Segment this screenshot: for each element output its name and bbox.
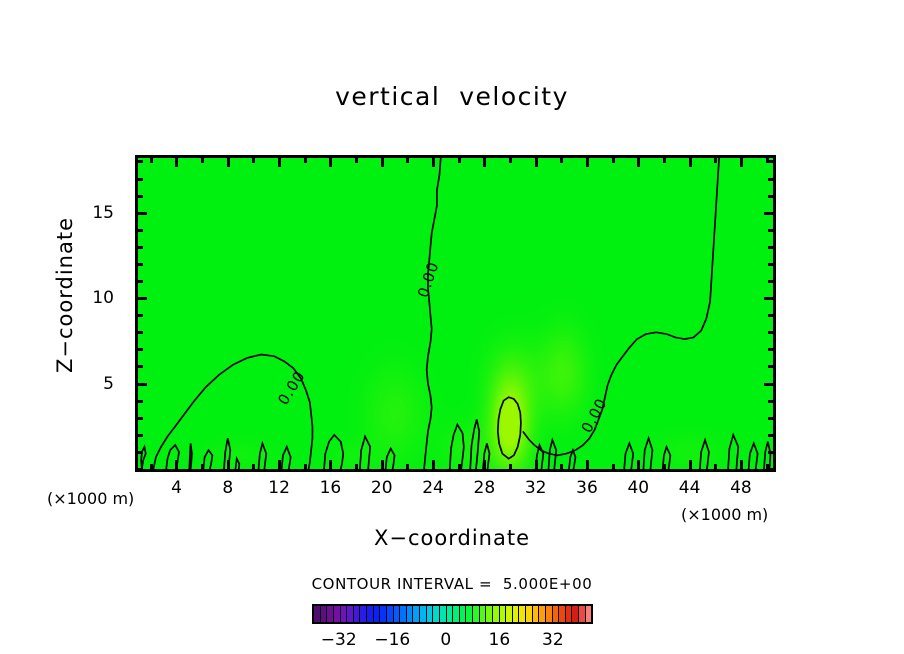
colorbar-cell <box>460 606 467 622</box>
x-tick-major <box>586 460 589 469</box>
colorbar-cell <box>380 606 387 622</box>
x-tick-major-top <box>637 158 640 167</box>
x-tick-minor <box>612 464 615 469</box>
y-tick-major-right <box>764 212 773 215</box>
x-tick-label: 24 <box>422 478 444 498</box>
colorbar-cell <box>473 606 480 622</box>
x-tick-label: 16 <box>320 478 342 498</box>
x-tick-minor-top <box>663 158 666 163</box>
colorbar-cell <box>579 606 586 622</box>
colorbar-cell <box>354 606 361 622</box>
x-tick-label: 48 <box>730 478 752 498</box>
x-tick-major <box>483 460 486 469</box>
x-tick-major <box>227 460 230 469</box>
y-tick-major <box>138 212 147 215</box>
colorbar-cell <box>400 606 407 622</box>
colorbar-cell <box>321 606 328 622</box>
x-tick-major-top <box>483 158 486 167</box>
x-tick-major-top <box>740 158 743 167</box>
colorbar-cell <box>374 606 381 622</box>
x-tick-major <box>381 460 384 469</box>
x-tick-label: 20 <box>371 478 393 498</box>
y-tick-minor-right <box>768 417 773 420</box>
colorbar-cell <box>334 606 341 622</box>
y-axis-title: Z−coordinate <box>53 217 77 373</box>
colorbar-cell <box>539 606 546 622</box>
colorbar-cell <box>394 606 401 622</box>
y-tick-major <box>138 297 147 300</box>
y-tick-minor <box>138 400 143 403</box>
y-tick-minor <box>138 451 143 454</box>
x-tick-major <box>535 460 538 469</box>
x-tick-major-top <box>329 158 332 167</box>
y-tick-label: 15 <box>92 203 114 223</box>
x-tick-minor-top <box>612 158 615 163</box>
y-tick-label: 10 <box>92 288 114 308</box>
x-tick-major <box>637 460 640 469</box>
colorbar-cell <box>572 606 579 622</box>
contour-interval-caption: CONTOUR INTERVAL = 5.000E+00 <box>0 575 904 593</box>
x-tick-label: 32 <box>525 478 547 498</box>
colorbar-cell <box>493 606 500 622</box>
velocity-field-raster <box>138 158 773 469</box>
x-tick-major-top <box>535 158 538 167</box>
x-tick-major <box>278 460 281 469</box>
y-tick-minor <box>138 195 143 198</box>
colorbar-tick-label: 16 <box>489 630 511 650</box>
x-tick-label: 8 <box>222 478 233 498</box>
y-tick-label: 5 <box>103 374 114 394</box>
colorbar-cell <box>327 606 334 622</box>
x-tick-minor <box>560 464 563 469</box>
colorbar-cell <box>526 606 533 622</box>
left-unit-label: (×1000 m) <box>47 489 134 508</box>
y-tick-minor <box>138 365 143 368</box>
y-tick-minor-right <box>768 314 773 317</box>
colorbar-cell <box>500 606 507 622</box>
y-tick-minor <box>138 331 143 334</box>
contour-plot-figure: vertical velocity 0.000.000.00 481216202… <box>0 0 904 654</box>
y-tick-minor <box>138 434 143 437</box>
colorbar-cell <box>420 606 427 622</box>
colorbar-cell <box>553 606 560 622</box>
colorbar-cell <box>559 606 566 622</box>
x-tick-minor <box>304 464 307 469</box>
colorbar-cell <box>513 606 520 622</box>
y-tick-minor-right <box>768 468 773 471</box>
colorbar-cell <box>407 606 414 622</box>
x-tick-label: 28 <box>474 478 496 498</box>
colorbar-cell <box>533 606 540 622</box>
y-tick-minor <box>138 314 143 317</box>
colorbar-cell <box>506 606 513 622</box>
colorbar-cell <box>387 606 394 622</box>
y-tick-minor-right <box>768 280 773 283</box>
colorbar-cell <box>413 606 420 622</box>
right-unit-label: (×1000 m) <box>681 505 768 524</box>
plot-area: 0.000.000.00 <box>135 155 776 472</box>
x-tick-minor-top <box>252 158 255 163</box>
y-tick-minor-right <box>768 451 773 454</box>
x-tick-major-top <box>432 158 435 167</box>
x-tick-label: 4 <box>171 478 182 498</box>
colorbar-cell <box>433 606 440 622</box>
colorbar-cell <box>314 606 321 622</box>
x-tick-minor <box>714 464 717 469</box>
y-tick-minor-right <box>768 246 773 249</box>
colorbar-cell <box>447 606 454 622</box>
x-tick-major-top <box>278 158 281 167</box>
x-axis-title: X−coordinate <box>0 526 904 550</box>
x-tick-major-top <box>381 158 384 167</box>
x-tick-minor <box>663 464 666 469</box>
y-tick-minor-right <box>768 178 773 181</box>
colorbar-cell <box>466 606 473 622</box>
colorbar-cell <box>427 606 434 622</box>
colorbar-cell <box>546 606 553 622</box>
x-tick-major-top <box>586 158 589 167</box>
y-tick-minor-right <box>768 348 773 351</box>
x-tick-major-top <box>175 158 178 167</box>
x-tick-minor-top <box>355 158 358 163</box>
x-tick-minor-top <box>150 158 153 163</box>
x-tick-major <box>432 460 435 469</box>
y-tick-minor-right <box>768 434 773 437</box>
colorbar-tick-label: −16 <box>374 630 410 650</box>
y-tick-major <box>138 383 147 386</box>
page-title: vertical velocity <box>0 82 904 111</box>
x-tick-minor-top <box>509 158 512 163</box>
x-tick-minor-top <box>406 158 409 163</box>
x-tick-label: 44 <box>679 478 701 498</box>
x-tick-minor <box>509 464 512 469</box>
y-tick-minor <box>138 280 143 283</box>
x-tick-minor <box>458 464 461 469</box>
y-tick-minor <box>138 417 143 420</box>
y-tick-minor <box>138 468 143 471</box>
x-tick-minor-top <box>458 158 461 163</box>
colorbar-cell <box>347 606 354 622</box>
x-tick-label: 40 <box>627 478 649 498</box>
x-tick-minor-top <box>714 158 717 163</box>
y-tick-minor <box>138 178 143 181</box>
y-tick-minor-right <box>768 195 773 198</box>
x-tick-minor <box>150 464 153 469</box>
y-tick-minor-right <box>768 160 773 163</box>
y-tick-minor <box>138 160 143 163</box>
y-tick-major-right <box>764 297 773 300</box>
colorbar-cell <box>367 606 374 622</box>
x-tick-minor <box>201 464 204 469</box>
x-tick-minor-top <box>560 158 563 163</box>
colorbar-cell <box>586 606 592 622</box>
y-tick-minor-right <box>768 263 773 266</box>
y-tick-minor-right <box>768 331 773 334</box>
y-tick-minor <box>138 263 143 266</box>
x-tick-major <box>175 460 178 469</box>
y-tick-major-right <box>764 383 773 386</box>
colorbar <box>312 604 593 624</box>
x-tick-minor <box>252 464 255 469</box>
x-tick-minor-top <box>201 158 204 163</box>
colorbar-cell <box>360 606 367 622</box>
x-tick-label: 12 <box>268 478 290 498</box>
x-tick-minor-top <box>304 158 307 163</box>
colorbar-cell <box>566 606 573 622</box>
colorbar-cell <box>486 606 493 622</box>
x-tick-minor <box>355 464 358 469</box>
y-tick-minor <box>138 229 143 232</box>
colorbar-cell <box>440 606 447 622</box>
colorbar-tick-label: −32 <box>321 630 357 650</box>
x-tick-major <box>740 460 743 469</box>
y-tick-minor <box>138 348 143 351</box>
colorbar-tick-label: 32 <box>542 630 564 650</box>
x-tick-major <box>329 460 332 469</box>
x-tick-major-top <box>227 158 230 167</box>
colorbar-tick-label: 0 <box>440 630 451 650</box>
colorbar-cell <box>341 606 348 622</box>
y-tick-minor-right <box>768 365 773 368</box>
x-tick-minor <box>406 464 409 469</box>
y-tick-minor <box>138 246 143 249</box>
x-tick-major-top <box>689 158 692 167</box>
colorbar-cell <box>453 606 460 622</box>
colorbar-cell <box>480 606 487 622</box>
x-tick-label: 36 <box>576 478 598 498</box>
x-tick-major <box>689 460 692 469</box>
y-tick-minor-right <box>768 400 773 403</box>
colorbar-cell <box>519 606 526 622</box>
y-tick-minor-right <box>768 229 773 232</box>
